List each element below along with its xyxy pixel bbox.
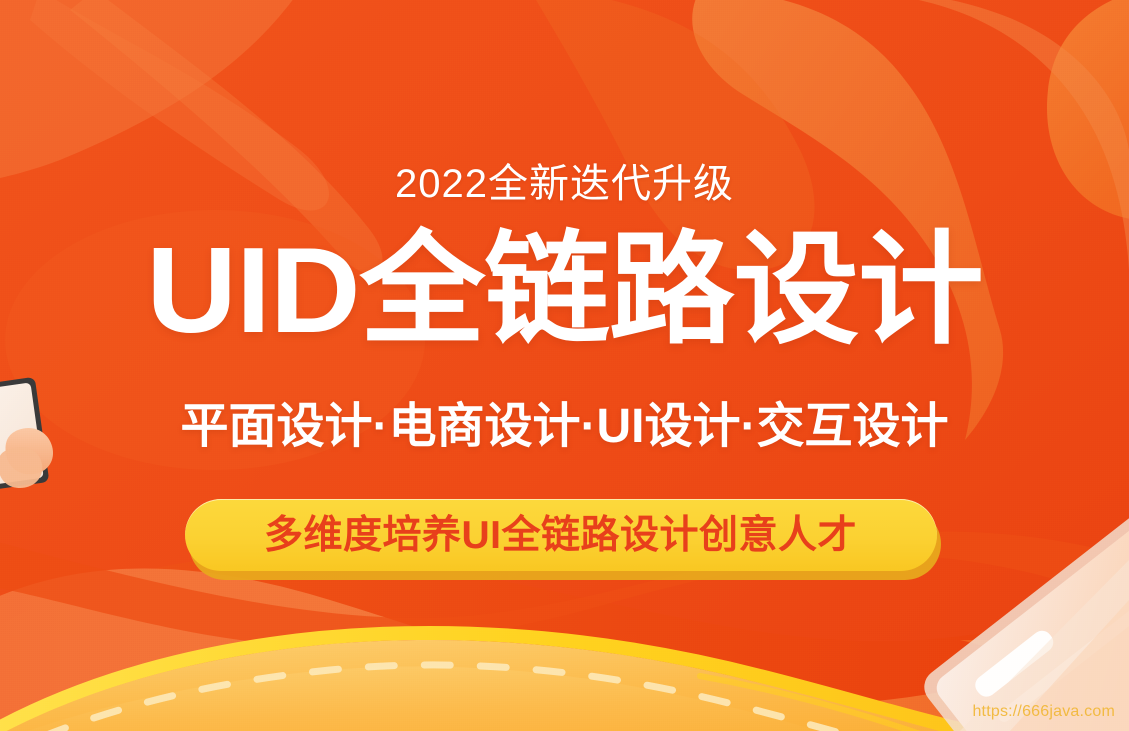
cta-button-label: 多维度培养UI全链路设计创意人才 [264,516,857,555]
banner-tagline: 平面设计·电商设计·UI设计·交互设计 [0,398,1129,456]
promo-banner: 2022全新迭代升级 UID全链路设计 平面设计·电商设计·UI设计·交互设计 … [0,0,1129,731]
banner-subtitle: 2022全新迭代升级 [0,160,1129,208]
watermark-url: https://666java.com [972,703,1115,721]
cta-button[interactable]: 多维度培养UI全链路设计创意人才 [185,499,937,571]
banner-content: 2022全新迭代升级 UID全链路设计 平面设计·电商设计·UI设计·交互设计 … [0,0,1129,731]
banner-headline: UID全链路设计 [0,228,1129,352]
cta-button-wrapper: 多维度培养UI全链路设计创意人才 [185,499,945,581]
